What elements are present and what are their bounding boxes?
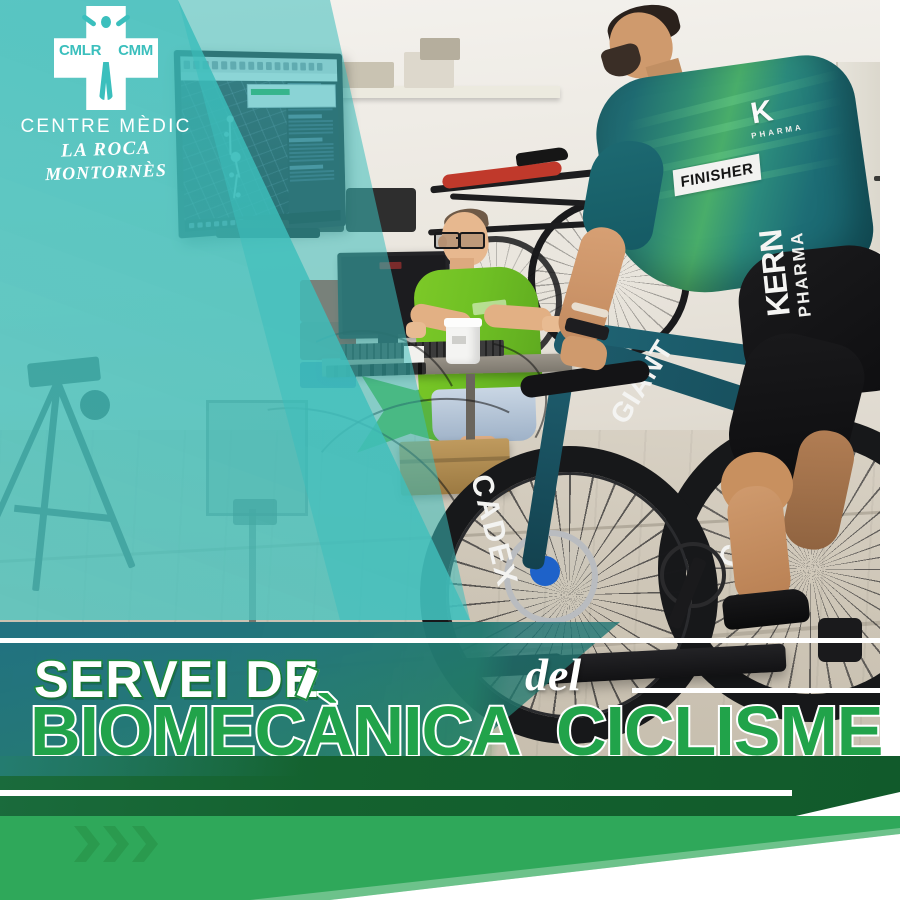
chevron-right-icon [74,826,100,862]
strip-white-rule [0,790,792,796]
brand-name-line2: LA ROCA [18,137,195,162]
chevron-right-icon [132,826,158,862]
chevron-group [74,826,158,862]
logo-badge-text: CMLR CMM [54,43,158,58]
shelf-box [420,38,460,60]
cyclist-person: K PHARMA FINISHER KERN PHARMA [545,0,900,560]
headline-line3: CICLISME [556,696,882,766]
logo-badge-left: CMLR [59,43,101,58]
medical-cross-icon: CMLR CMM [54,6,158,110]
brand-logo[interactable]: CMLR CMM CENTRE MÈDIC LA ROCA MONTORNÈS [18,6,194,166]
dark-green-strip [0,756,900,818]
chevron-right-icon [103,826,129,862]
jersey-brand-text: K [749,96,775,129]
eyeglasses-icon [434,232,486,245]
headline-line2: BIOMECÀNICA [30,696,521,766]
banner-rule-top [0,638,900,643]
poster-canvas: CADEX CADEX GIANT K PHARMA FINISHER [0,0,900,900]
strip-teal-corner [0,756,300,776]
brand-name-line1: CENTRE MÈDIC [18,117,194,136]
logo-badge-right: CMM [118,43,153,58]
